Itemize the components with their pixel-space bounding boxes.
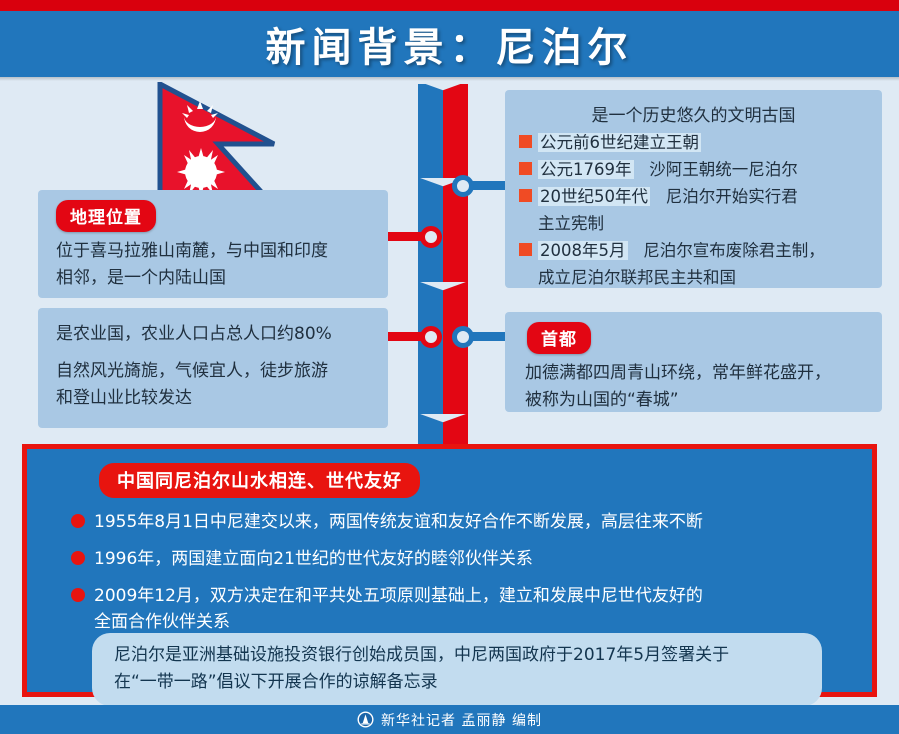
capital-tag-wrap: 首都: [505, 312, 882, 360]
infographic-page: 新闻背景：尼泊尔: [0, 0, 899, 734]
capital-card: 首都 加德满都四周青山环绕，常年鲜花盛开， 被称为山国的“春城”: [505, 312, 882, 412]
relations-item: 1955年8月1日中尼建交以来，两国传统友谊和友好合作不断发展，高层往来不断: [71, 509, 872, 535]
history-item-continuation: 成立尼泊尔联邦民主共和国: [519, 265, 882, 290]
history-item: 公元前6世纪建立王朝: [519, 130, 882, 155]
history-item-group: 20世纪50年代 尼泊尔开始实行君 主立宪制: [519, 184, 882, 236]
dot-bullet-icon: [71, 551, 85, 565]
relations-panel: 中国同尼泊尔山水相连、世代友好 1955年8月1日中尼建交以来，两国传统友谊和友…: [22, 444, 877, 697]
relations-item-text: 1996年，两国建立面向21世纪的世代友好的睦邻伙伴关系: [94, 546, 533, 572]
page-title: 新闻背景：尼泊尔: [0, 11, 899, 77]
history-item-text: 2008年5月 尼泊尔宣布废除君主制，: [538, 238, 882, 263]
agriculture-body: 是农业国，农业人口占总人口约80% 自然风光旖旎，气候宜人，徒步旅游 和登山业比…: [38, 308, 388, 422]
relations-note-line: 在“一带一路”倡议下开展合作的谅解备忘录: [114, 669, 802, 696]
relations-item-text: 2009年12月，双方决定在和平共处五项原则基础上，建立和发展中尼世代友好的: [94, 583, 703, 609]
connector-node-geo: [420, 226, 442, 248]
relations-note-line: 尼泊尔是亚洲基础设施投资银行创始成员国，中尼两国政府于2017年5月签署关于: [114, 642, 802, 669]
connector-node-agri: [420, 326, 442, 348]
geography-tag-wrap: 地理位置: [38, 190, 388, 238]
history-item-group: 2008年5月 尼泊尔宣布废除君主制， 成立尼泊尔联邦民主共和国: [519, 238, 882, 290]
footer-bar: 新华社记者 孟丽静 编制: [0, 705, 899, 734]
square-bullet-icon: [519, 243, 532, 256]
agriculture-line: 和登山业比较发达: [56, 385, 370, 412]
sun-emblem: [177, 148, 225, 196]
relations-item: 2009年12月，双方决定在和平共处五项原则基础上，建立和发展中尼世代友好的 全…: [71, 583, 872, 635]
history-list: 公元前6世纪建立王朝 公元1769年 沙阿王朝统一尼泊尔 20世纪50年代 尼泊…: [505, 130, 882, 298]
relations-list: 1955年8月1日中尼建交以来，两国传统友谊和友好合作不断发展，高层往来不断 1…: [27, 498, 872, 635]
history-item-date: 公元1769年: [538, 160, 634, 179]
relations-item-text: 1955年8月1日中尼建交以来，两国传统友谊和友好合作不断发展，高层往来不断: [94, 509, 703, 535]
geography-tag: 地理位置: [56, 200, 156, 232]
history-item-detail: 尼泊尔开始实行君: [666, 187, 798, 206]
spine-blue-half: [418, 84, 443, 452]
geography-card: 地理位置 位于喜马拉雅山南麓，与中国和印度 相邻，是一个内陆山国: [38, 190, 388, 298]
relations-tag: 中国同尼泊尔山水相连、世代友好: [99, 463, 420, 498]
history-item-text: 公元前6世纪建立王朝: [538, 130, 882, 155]
history-item-date: 20世纪50年代: [538, 187, 650, 206]
square-bullet-icon: [519, 162, 532, 175]
spine-red-half: [443, 84, 468, 452]
history-item-detail: 尼泊尔宣布废除君主制，: [643, 241, 825, 260]
center-spine: [418, 84, 468, 452]
spine-notch: [416, 82, 470, 104]
history-item-text: 公元1769年 沙阿王朝统一尼泊尔: [538, 157, 882, 182]
header-shadow: [0, 77, 899, 81]
footer-credit-wrap: 新华社记者 孟丽静 编制: [0, 705, 899, 734]
spine-notch: [416, 414, 470, 436]
agriculture-line: 自然风光旖旎，气候宜人，徒步旅游: [56, 358, 370, 385]
history-heading: 是一个历史悠久的文明古国: [505, 90, 882, 130]
capital-body: 加德满都四周青山环绕，常年鲜花盛开， 被称为山国的“春城”: [505, 360, 882, 424]
header-bar: 新闻背景：尼泊尔: [0, 11, 899, 77]
geography-body: 位于喜马拉雅山南麓，与中国和印度 相邻，是一个内陆山国: [38, 238, 388, 302]
relations-tag-wrap: 中国同尼泊尔山水相连、世代友好: [27, 449, 872, 498]
relations-item: 1996年，两国建立面向21世纪的世代友好的睦邻伙伴关系: [71, 546, 872, 572]
history-item-continuation: 主立宪制: [519, 211, 882, 236]
connector-node-history: [452, 175, 474, 197]
connector-node-capital: [452, 326, 474, 348]
agriculture-card: 是农业国，农业人口占总人口约80% 自然风光旖旎，气候宜人，徒步旅游 和登山业比…: [38, 308, 388, 428]
square-bullet-icon: [519, 189, 532, 202]
spine-notch: [416, 282, 470, 304]
relations-note-box: 尼泊尔是亚洲基础设施投资银行创始成员国，中尼两国政府于2017年5月签署关于 在…: [92, 633, 822, 706]
history-item-date: 公元前6世纪建立王朝: [538, 133, 701, 152]
history-item: 2008年5月 尼泊尔宣布废除君主制，: [519, 238, 882, 263]
geography-line: 相邻，是一个内陆山国: [56, 265, 370, 292]
capital-line: 加德满都四周青山环绕，常年鲜花盛开，: [525, 360, 864, 387]
history-item-text: 20世纪50年代 尼泊尔开始实行君: [538, 184, 882, 209]
history-item: 公元1769年 沙阿王朝统一尼泊尔: [519, 157, 882, 182]
xinhua-logo-icon: [357, 711, 374, 728]
history-item: 20世纪50年代 尼泊尔开始实行君: [519, 184, 882, 209]
capital-line: 被称为山国的“春城”: [525, 387, 864, 414]
history-item-detail: 沙阿王朝统一尼泊尔: [649, 160, 798, 179]
dot-bullet-icon: [71, 514, 85, 528]
top-red-bar: [0, 0, 899, 11]
history-card: 是一个历史悠久的文明古国 公元前6世纪建立王朝 公元1769年 沙阿王朝统一尼泊…: [505, 90, 882, 288]
capital-tag: 首都: [527, 322, 591, 354]
dot-bullet-icon: [71, 588, 85, 602]
footer-credit-text: 新华社记者 孟丽静 编制: [381, 710, 542, 730]
agriculture-line: 是农业国，农业人口占总人口约80%: [56, 321, 370, 348]
square-bullet-icon: [519, 135, 532, 148]
relations-item-block: 2009年12月，双方决定在和平共处五项原则基础上，建立和发展中尼世代友好的 全…: [94, 583, 703, 635]
history-item-date: 2008年5月: [538, 241, 628, 260]
relations-item-text-cont: 全面合作伙伴关系: [94, 609, 703, 635]
geography-line: 位于喜马拉雅山南麓，与中国和印度: [56, 238, 370, 265]
